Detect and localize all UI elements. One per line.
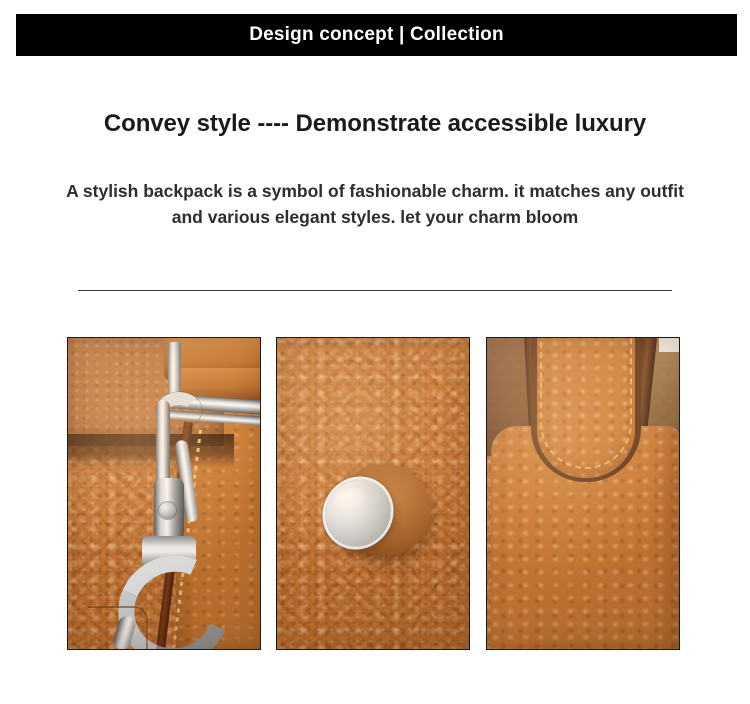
banner-title: Design concept | Collection (249, 24, 504, 46)
product-photo-handle-stitching-detail[interactable] (486, 337, 680, 650)
product-photo-stud-detail[interactable] (276, 337, 470, 650)
product-detail-gallery (67, 337, 683, 650)
page-title: Convey style ---- Demonstrate accessible… (0, 110, 750, 138)
photo-sheen (277, 338, 469, 649)
photo-sheen (487, 338, 679, 649)
product-photo-clasp-detail[interactable] (67, 337, 261, 650)
section-divider (78, 290, 672, 291)
description-line-1: A stylish backpack is a symbol of fashio… (8, 178, 742, 204)
photo-sheen (68, 338, 260, 649)
description-line-2: and various elegant styles. let your cha… (8, 204, 742, 230)
description-text: A stylish backpack is a symbol of fashio… (8, 178, 742, 230)
banner: Design concept | Collection (16, 14, 737, 56)
